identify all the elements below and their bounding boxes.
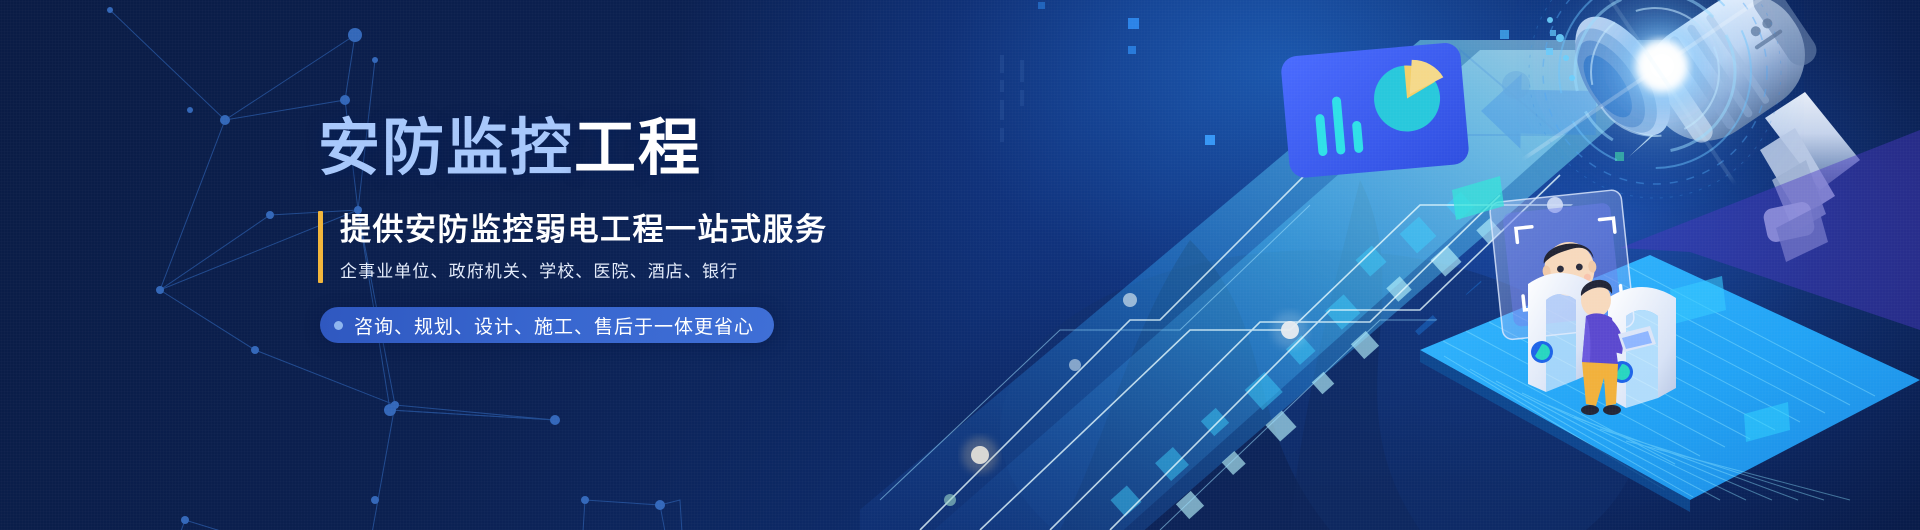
tagline: 企事业单位、政府机关、学校、医院、酒店、银行 <box>340 257 828 282</box>
technology-illustration <box>860 0 1920 530</box>
analytics-card <box>1280 42 1470 179</box>
subtitle-block: 提供安防监控弱电工程一站式服务 企事业单位、政府机关、学校、医院、酒店、银行 <box>318 211 938 283</box>
subtitle: 提供安防监控弱电工程一站式服务 <box>340 212 828 248</box>
accent-bar <box>318 211 323 283</box>
background-glyphs <box>1000 55 1024 142</box>
title-primary: 安防监控 <box>318 114 574 183</box>
banner-root: 安防监控工程 提供安防监控弱电工程一站式服务 企事业单位、政府机关、学校、医院、… <box>0 0 1920 530</box>
bullet-dot-icon <box>334 321 343 330</box>
service-pill[interactable]: 咨询、规划、设计、施工、售后于一体更省心 <box>320 307 774 343</box>
service-pill-label: 咨询、规划、设计、施工、售后于一体更省心 <box>354 312 754 339</box>
headline-block: 安防监控工程 提供安防监控弱电工程一站式服务 企事业单位、政府机关、学校、医院、… <box>318 118 938 283</box>
title-secondary: 工程 <box>574 114 702 183</box>
page-title: 安防监控工程 <box>318 118 938 180</box>
